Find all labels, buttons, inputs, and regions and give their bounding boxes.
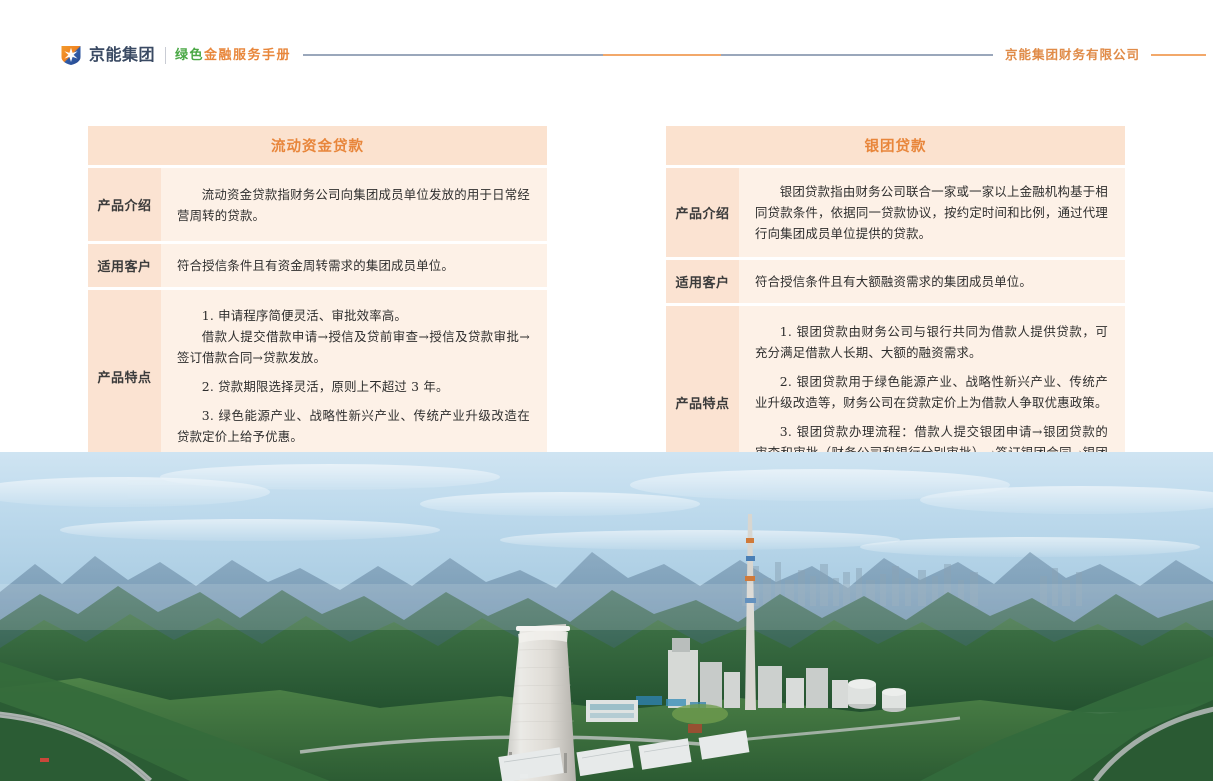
row-body: 1. 申请程序简便灵活、审批效率高。 借款人提交借款申请→授信及贷前审查→授信及…: [161, 290, 547, 462]
product-tables: 流动资金贷款 产品介绍 流动资金贷款指财务公司向集团成员单位发放的用于日常经营周…: [0, 126, 1213, 499]
header-rule-gray-left: [303, 54, 603, 56]
header-rule-orange-mid: [603, 54, 721, 56]
brand-logo: 京能集团 绿色金融服务手册: [60, 44, 291, 66]
manual-title-green: 绿色: [175, 48, 204, 63]
paragraph: 银团贷款指由财务公司联合一家或一家以上金融机构基于相同贷款条件，依据同一贷款协议…: [755, 181, 1108, 244]
header-rule-orange-right: [1151, 54, 1206, 56]
paragraph: 借款人提交借款申请→授信及贷前审查→授信及贷款审批→签订借款合同→贷款发放。: [177, 326, 530, 368]
logo-wordmark: 京能集团: [89, 47, 155, 63]
row-label: 适用客户: [88, 244, 161, 287]
logo-divider: [165, 47, 166, 64]
product-card-syndicated-loan: 银团贷款 产品介绍 银团贷款指由财务公司联合一家或一家以上金融机构基于相同贷款条…: [666, 126, 1125, 499]
header-rule: [303, 54, 993, 56]
paragraph: 2. 银团贷款用于绿色能源产业、战略性新兴产业、传统产业升级改造等，财务公司在贷…: [755, 371, 1108, 413]
paragraph: 符合授信条件且有资金周转需求的集团成员单位。: [177, 255, 530, 276]
paragraph: 3. 绿色能源产业、战略性新兴产业、传统产业升级改造在贷款定价上给予优惠。: [177, 405, 530, 447]
power-plant-illustration: [0, 452, 1213, 781]
paragraph: 1. 银团贷款由财务公司与银行共同为借款人提供贷款，可充分满足借款人长期、大额的…: [755, 321, 1108, 363]
row-label: 产品特点: [88, 290, 161, 462]
table-row: 适用客户 符合授信条件且有资金周转需求的集团成员单位。: [88, 244, 547, 287]
manual-title: 绿色金融服务手册: [175, 49, 291, 62]
table-row: 产品介绍 流动资金贷款指财务公司向集团成员单位发放的用于日常经营周转的贷款。: [88, 168, 547, 241]
row-label: 产品介绍: [666, 168, 739, 257]
power-plant-photo: [0, 452, 1213, 781]
jingneng-shield-star-icon: [60, 44, 82, 66]
card-title: 流动资金贷款: [88, 126, 547, 165]
office-building: [586, 700, 638, 722]
row-body: 符合授信条件且有资金周转需求的集团成员单位。: [161, 244, 547, 287]
product-card-liquidity-loan: 流动资金贷款 产品介绍 流动资金贷款指财务公司向集团成员单位发放的用于日常经营周…: [88, 126, 547, 499]
paragraph: 1. 申请程序简便灵活、审批效率高。: [177, 305, 530, 326]
row-body: 银团贷款指由财务公司联合一家或一家以上金融机构基于相同贷款条件，依据同一贷款协议…: [739, 168, 1125, 257]
row-body: 符合授信条件且有大额融资需求的集团成员单位。: [739, 260, 1125, 303]
row-label: 适用客户: [666, 260, 739, 303]
card-title: 银团贷款: [666, 126, 1125, 165]
table-row: 产品介绍 银团贷款指由财务公司联合一家或一家以上金融机构基于相同贷款条件，依据同…: [666, 168, 1125, 257]
company-name: 京能集团财务有限公司: [1005, 49, 1140, 62]
row-label: 产品介绍: [88, 168, 161, 241]
row-body: 流动资金贷款指财务公司向集团成员单位发放的用于日常经营周转的贷款。: [161, 168, 547, 241]
header-rule-gray-right: [721, 54, 993, 56]
document-page: 京能集团 绿色金融服务手册 京能集团财务有限公司 流动资金贷款 产品介绍 流动资…: [0, 0, 1213, 781]
paragraph: 符合授信条件且有大额融资需求的集团成员单位。: [755, 271, 1108, 292]
paragraph: 流动资金贷款指财务公司向集团成员单位发放的用于日常经营周转的贷款。: [177, 184, 530, 226]
table-row: 适用客户 符合授信条件且有大额融资需求的集团成员单位。: [666, 260, 1125, 303]
manual-title-orange: 金融服务手册: [204, 48, 291, 63]
page-header: 京能集团 绿色金融服务手册 京能集团财务有限公司: [0, 38, 1213, 72]
table-row: 产品特点 1. 申请程序简便灵活、审批效率高。 借款人提交借款申请→授信及贷前审…: [88, 290, 547, 462]
paragraph: 2. 贷款期限选择灵活，原则上不超过 3 年。: [177, 376, 530, 397]
